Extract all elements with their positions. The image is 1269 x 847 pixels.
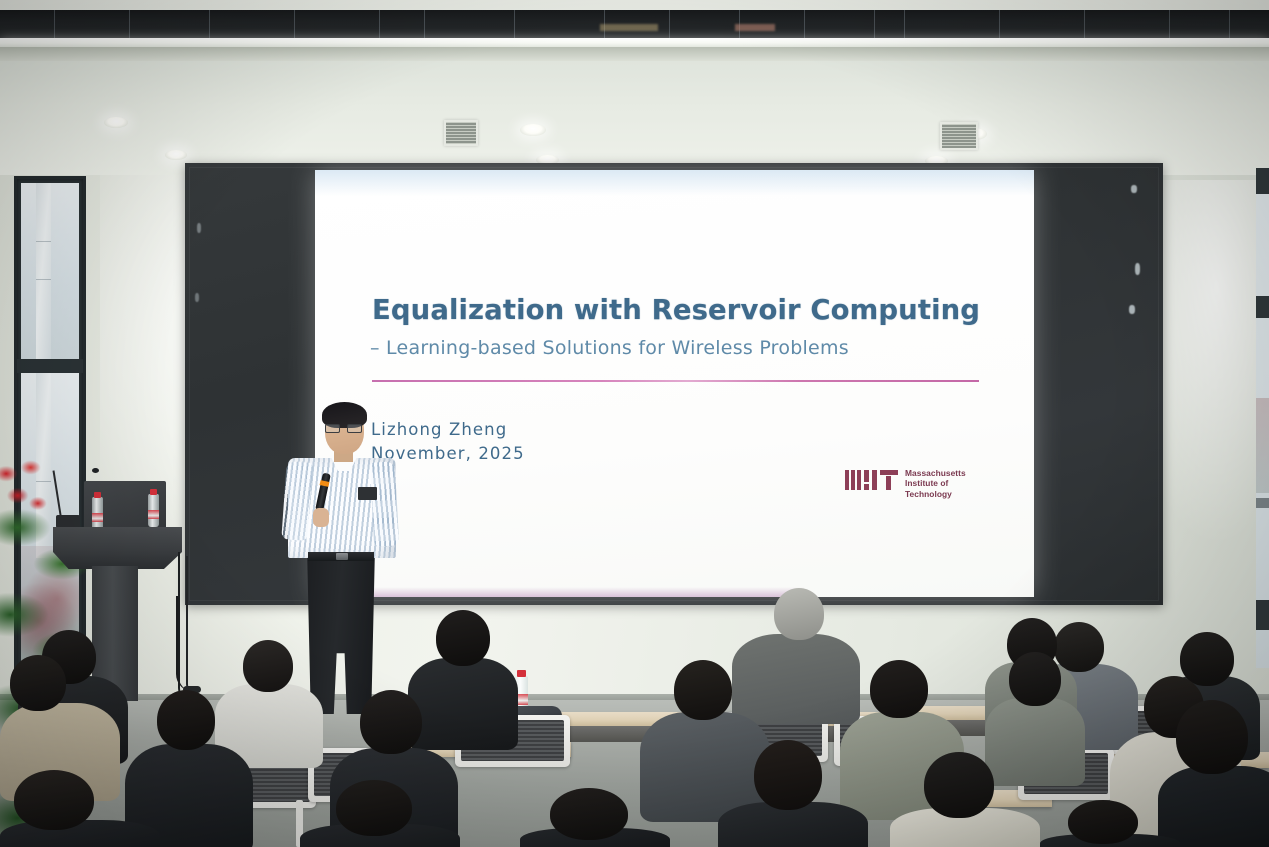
mit-word-line2: Institute of	[905, 478, 966, 488]
audience-member	[0, 770, 160, 847]
speaker-left-arm	[281, 461, 312, 541]
microphone-icon	[92, 468, 99, 473]
speaker-hand	[313, 508, 329, 527]
audience-member	[300, 780, 460, 847]
lecture-photo-scene: Equalization with Reservoir Computing – …	[0, 0, 1269, 847]
water-bottle	[92, 497, 103, 530]
screen-top-glow	[315, 170, 1034, 196]
slide-author: Lizhong Zheng	[371, 420, 507, 439]
downlight-icon	[104, 117, 128, 128]
slide-divider-rule	[372, 380, 979, 382]
audience-member	[520, 788, 670, 847]
ceiling-vent-icon	[444, 120, 478, 146]
right-window-sliver	[1256, 168, 1269, 668]
podium-top	[53, 527, 182, 552]
ceiling-plane	[0, 61, 1269, 175]
slide-title: Equalization with Reservoir Computing	[372, 294, 980, 326]
red-flowers	[0, 455, 58, 533]
mit-logo-wordmark: Massachusetts Institute of Technology	[905, 468, 966, 499]
downlight-icon	[520, 124, 546, 136]
downlight-icon	[165, 150, 187, 160]
eyeglasses-icon	[325, 424, 364, 433]
belt-buckle	[336, 553, 348, 560]
window-pane-upper	[21, 183, 79, 359]
speaker-right-arm	[370, 461, 399, 546]
audience-member	[718, 740, 868, 847]
ceiling-dark-band	[0, 10, 1269, 38]
ceiling-vent-icon	[940, 122, 978, 150]
window-mullion	[17, 359, 83, 373]
water-bottle	[148, 494, 159, 527]
speaker-shirt-pocket	[358, 487, 377, 500]
mit-logo-bars-icon	[845, 468, 898, 490]
projection-screen: Equalization with Reservoir Computing – …	[315, 170, 1034, 597]
hanging-cable	[176, 596, 194, 692]
ceiling-light-strip	[0, 38, 1269, 47]
mit-word-line3: Technology	[905, 489, 966, 499]
ceiling-soffit-shadow	[0, 47, 1269, 61]
slide-subtitle: – Learning-based Solutions for Wireless …	[370, 337, 849, 359]
mit-word-line1: Massachusetts	[905, 468, 966, 478]
mit-logo: Massachusetts Institute of Technology	[845, 468, 966, 499]
audience-member	[890, 752, 1040, 847]
audience-member	[1040, 800, 1180, 847]
